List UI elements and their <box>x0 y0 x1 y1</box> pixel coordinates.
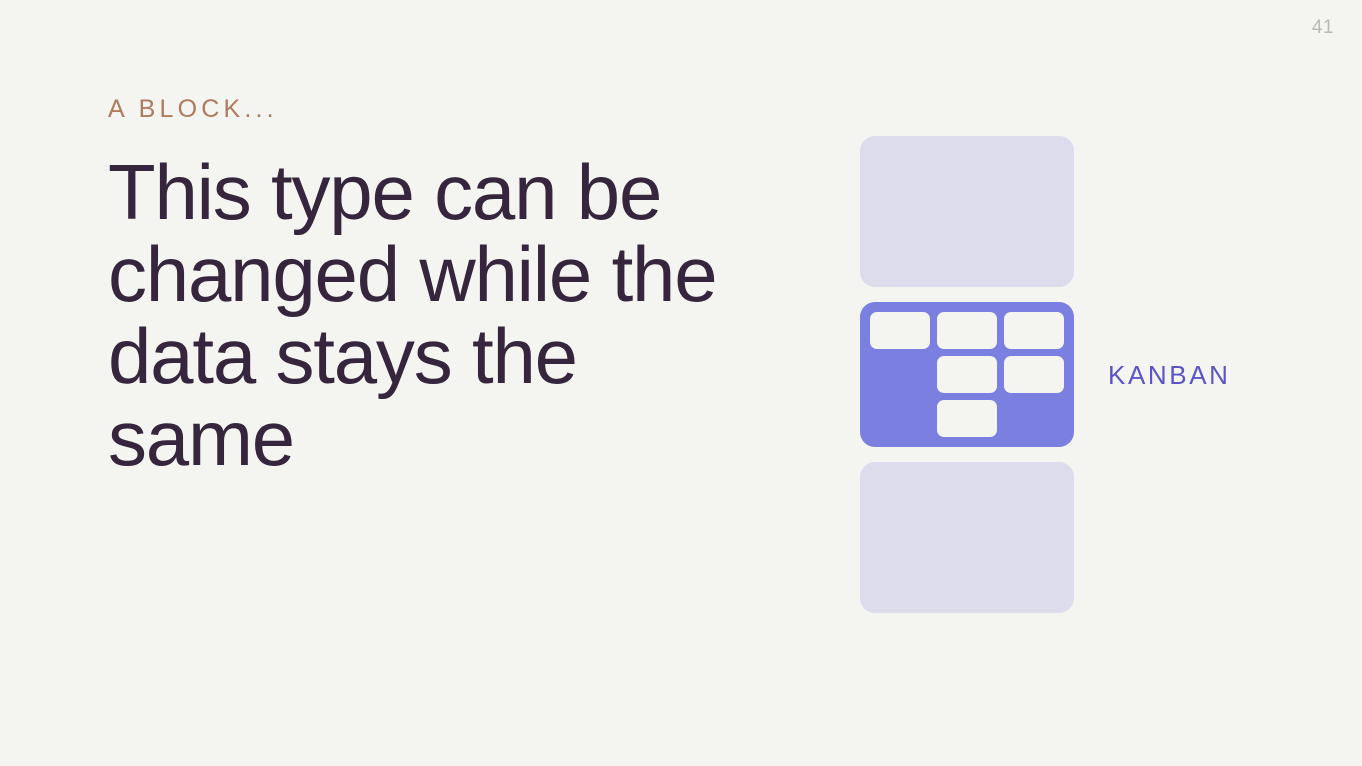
kanban-card[interactable] <box>937 356 997 393</box>
slide-canvas: 41 A BLOCK... This type can be changed w… <box>0 0 1362 766</box>
kanban-card[interactable] <box>870 312 930 349</box>
page-number: 41 <box>1312 18 1334 37</box>
placeholder-block-bottom <box>860 462 1074 613</box>
kanban-card[interactable] <box>937 400 997 437</box>
diagram-column <box>860 136 1074 613</box>
eyebrow-label: A BLOCK... <box>108 94 788 124</box>
page-title: This type can be changed while the data … <box>108 152 768 480</box>
kanban-card[interactable] <box>1004 356 1064 393</box>
kanban-label: KANBAN <box>1108 362 1231 388</box>
placeholder-block-top <box>860 136 1074 287</box>
kanban-block[interactable] <box>860 302 1074 447</box>
kanban-column-2 <box>937 312 997 437</box>
text-column: A BLOCK... This type can be changed whil… <box>108 94 788 480</box>
block-gap-top <box>860 287 1074 302</box>
block-gap-bottom <box>860 447 1074 462</box>
kanban-card[interactable] <box>937 312 997 349</box>
kanban-column-3 <box>1004 312 1064 393</box>
kanban-column-1 <box>870 312 930 349</box>
kanban-card[interactable] <box>1004 312 1064 349</box>
